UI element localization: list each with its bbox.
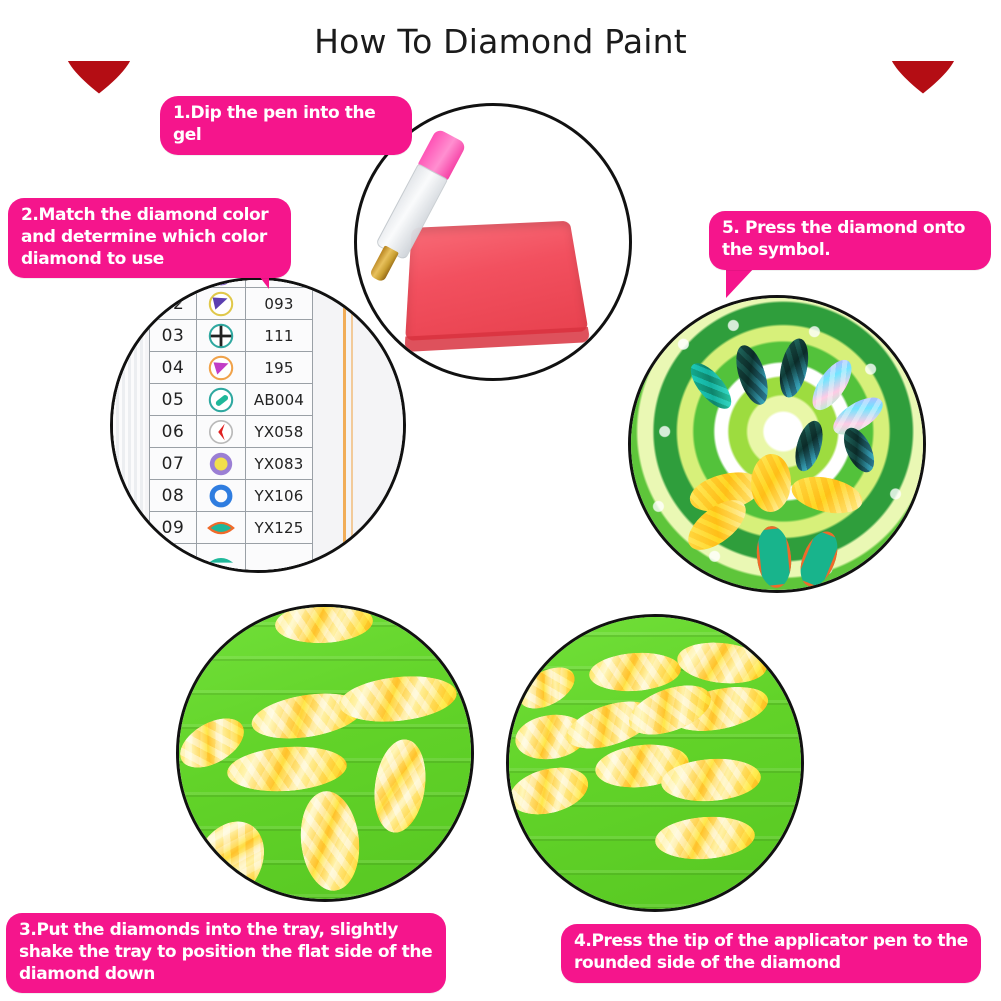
table-row: 07 YX083: [150, 448, 313, 480]
table-row: 10: [150, 544, 313, 573]
step-5-photo: [628, 295, 926, 593]
chart-orange-rule: [351, 277, 353, 573]
table-row: 05 AB004: [150, 384, 313, 416]
step-2-label: 2.Match the diamond color and determine …: [8, 198, 291, 278]
cell-number: 08: [150, 480, 197, 512]
cell-code: YX125: [246, 512, 313, 544]
cell-code: AB004: [246, 384, 313, 416]
pen-tip: [369, 245, 399, 283]
cell-code: YX083: [246, 448, 313, 480]
step-2-photo: 01 028 02: [110, 277, 406, 573]
table-row: 03 111: [150, 320, 313, 352]
cell-code: YX106: [246, 480, 313, 512]
connector-pointer-step5: [726, 266, 756, 298]
table-row: 01 028: [150, 277, 313, 288]
quarter-triangle-icon: [197, 288, 246, 320]
open-ring-icon: [197, 480, 246, 512]
plus-cross-icon: [197, 320, 246, 352]
quarter-triangle-icon: [197, 352, 246, 384]
table-row: 04 195: [150, 352, 313, 384]
step-4-label: 4.Press the tip of the applicator pen to…: [561, 924, 981, 983]
gel-pad: [405, 221, 588, 341]
cell-number: 04: [150, 352, 197, 384]
cell-code: 111: [246, 320, 313, 352]
step-3-label: 3.Put the diamonds into the tray, slight…: [6, 913, 446, 993]
cell-number: 06: [150, 416, 197, 448]
color-chart-sheet: 01 028 02: [110, 277, 406, 573]
cell-number: 09: [150, 512, 197, 544]
cell-number: 02: [150, 288, 197, 320]
filled-dot-ring-icon: [197, 448, 246, 480]
color-code-table: 01 028 02: [149, 277, 313, 573]
cell-number: 03: [150, 320, 197, 352]
canvas-fabric-edge: [110, 277, 145, 573]
step-3-photo: [176, 604, 474, 902]
table-row: 09 YX125: [150, 512, 313, 544]
cell-number: 01: [150, 277, 197, 288]
left-arrowhead-icon: [197, 416, 246, 448]
page-title: How To Diamond Paint: [0, 22, 1001, 61]
table-row: 08 YX106: [150, 480, 313, 512]
cell-number: 05: [150, 384, 197, 416]
table-row: 02 093: [150, 288, 313, 320]
infographic-canvas: How To Diamond Paint 1.Dip the pen into …: [0, 0, 1001, 1001]
slash-capsule-icon: [197, 384, 246, 416]
double-dot-circle-icon: [197, 277, 246, 288]
step-1-label: 1.Dip the pen into the gel: [160, 96, 412, 155]
cell-code: YX058: [246, 416, 313, 448]
step-4-photo: [506, 614, 804, 912]
table-row: 06 YX058: [150, 416, 313, 448]
leaf-marquise-icon: [197, 512, 246, 544]
cell-number: 10: [150, 544, 197, 573]
step-5-label: 5. Press the diamond onto the symbol.: [709, 211, 991, 270]
cell-number: 07: [150, 448, 197, 480]
cell-code: 195: [246, 352, 313, 384]
chart-orange-rule: [343, 277, 346, 573]
cell-code: [246, 544, 313, 573]
leaf-marquise-icon: [197, 544, 246, 573]
cell-code: 093: [246, 288, 313, 320]
